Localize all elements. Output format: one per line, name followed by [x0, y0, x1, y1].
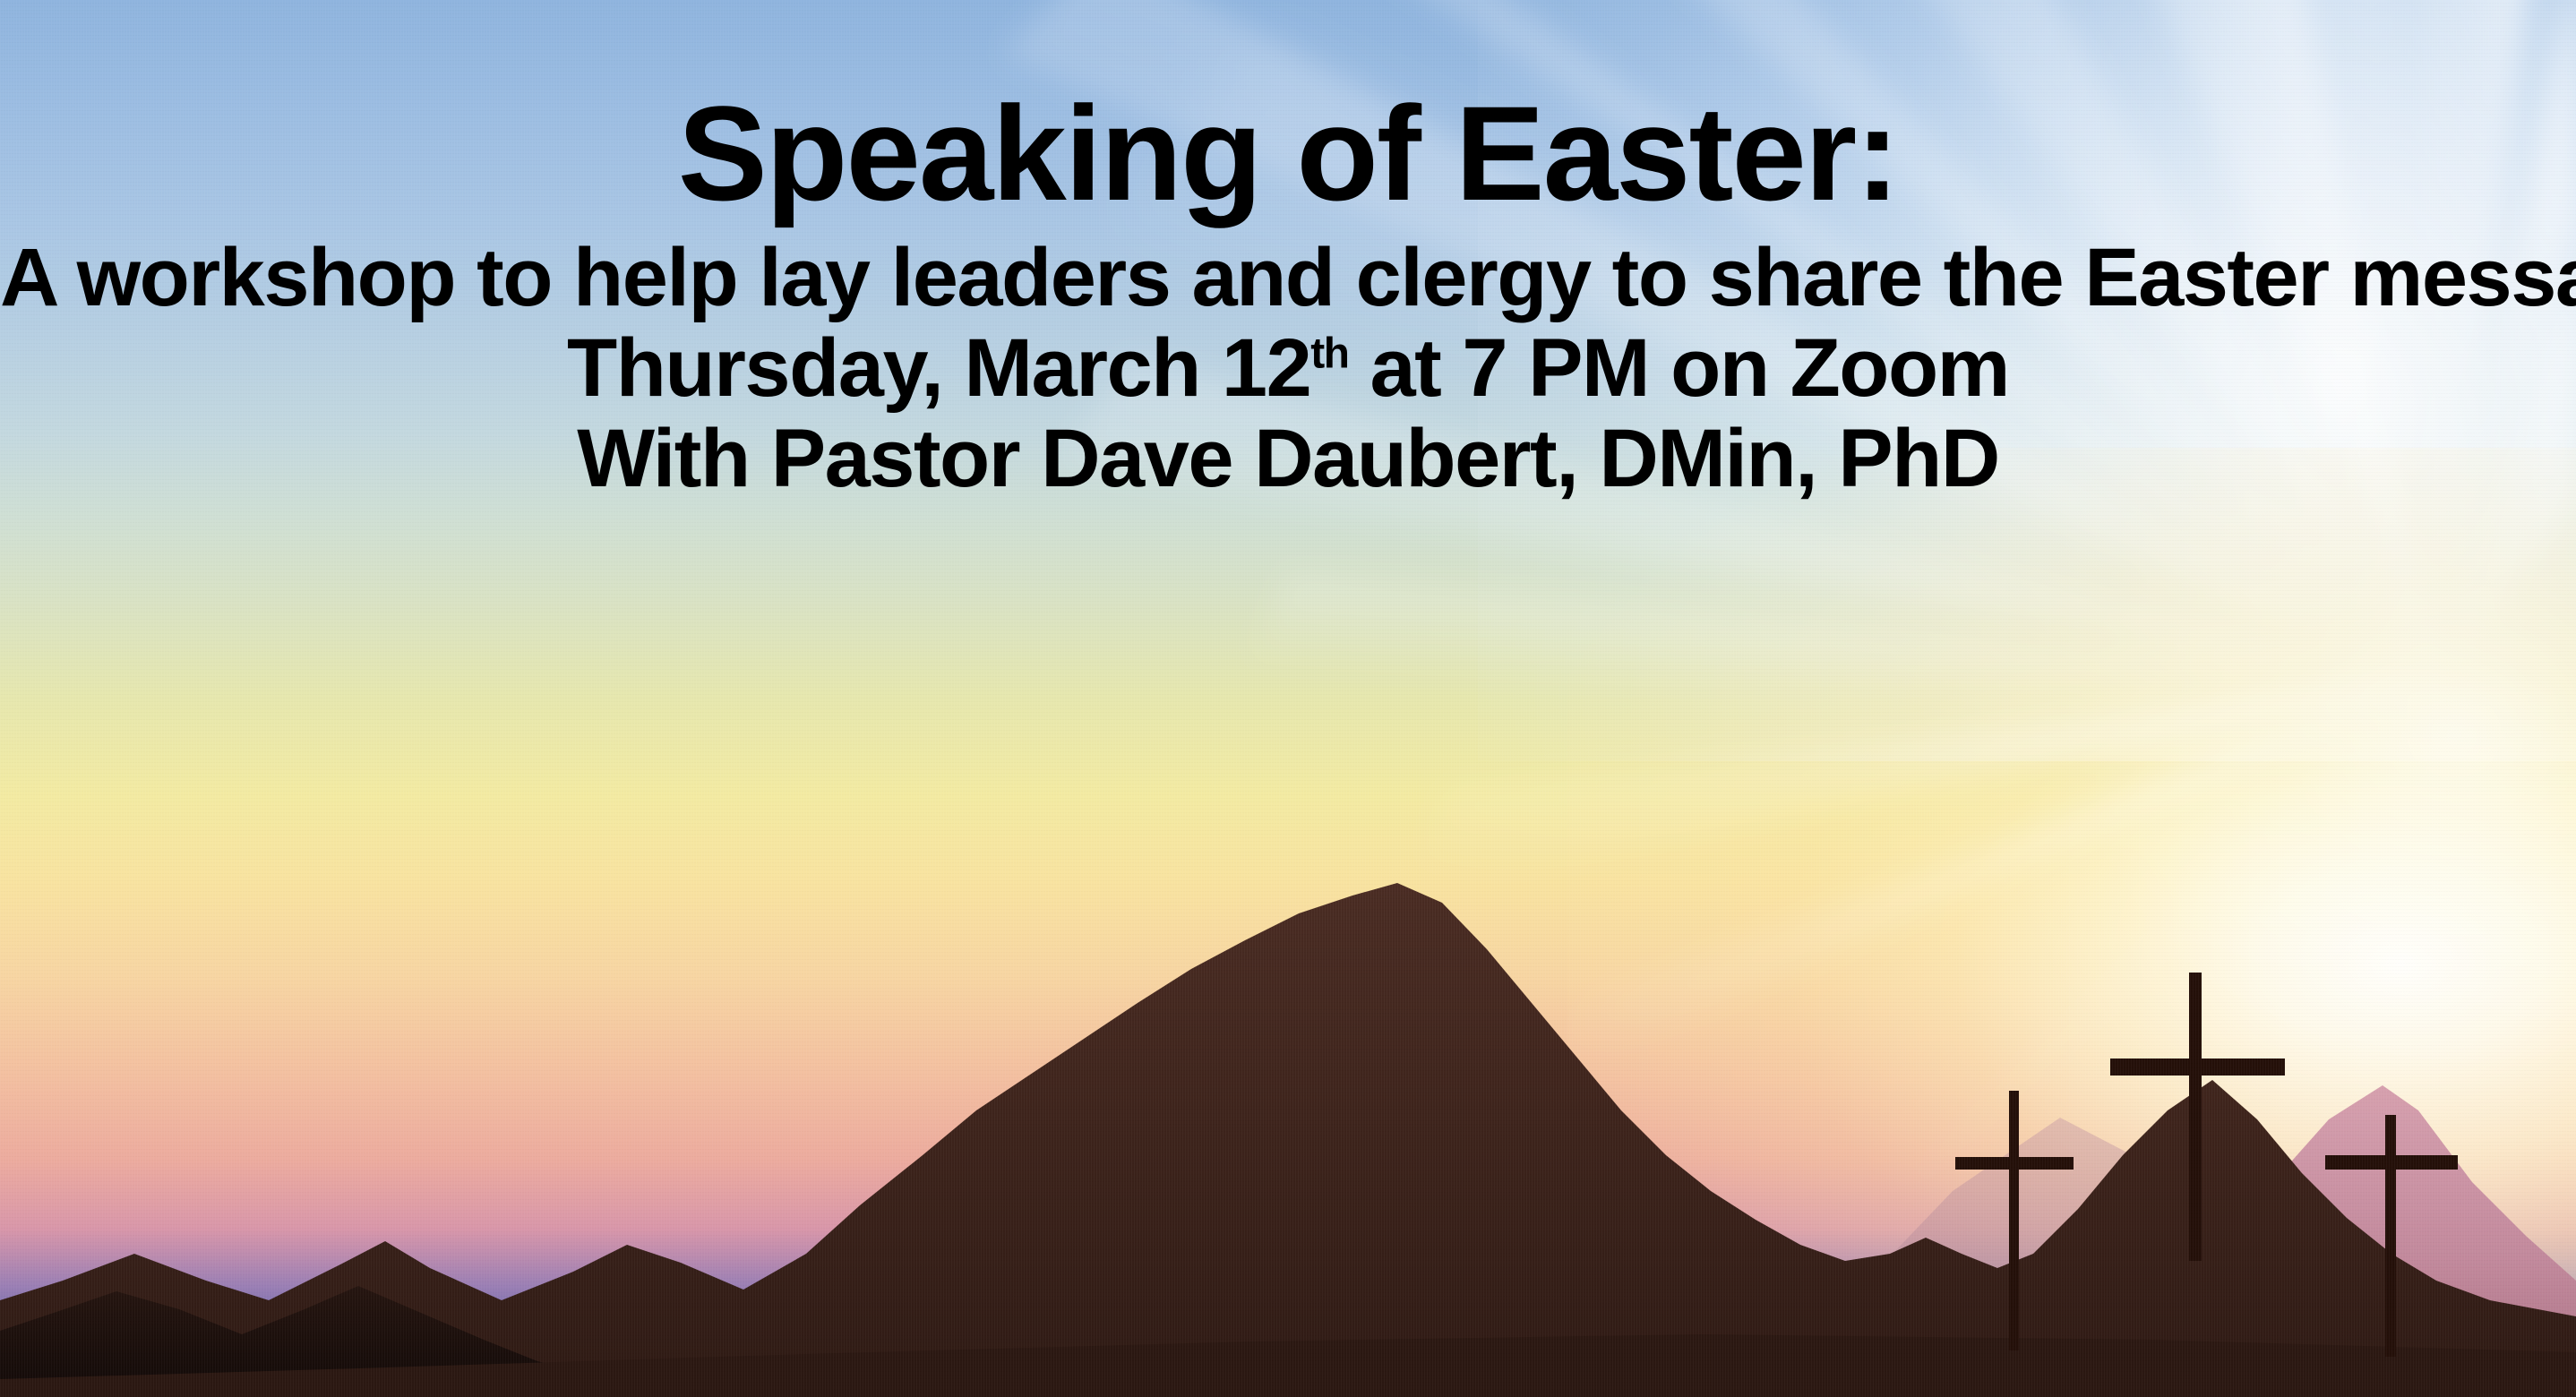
presenter-line: With Pastor Dave Daubert, DMin, PhD — [0, 414, 2576, 504]
workshop-subtitle: A workshop to help lay leaders and clerg… — [0, 233, 2576, 323]
event-date-ordinal: th — [1310, 330, 1348, 378]
event-datetime-line: Thursday, March 12th at 7 PM on Zoom — [0, 323, 2576, 414]
event-time-platform: at 7 PM on Zoom — [1348, 322, 2009, 414]
easter-workshop-poster: Speaking of Easter: A workshop to help l… — [0, 0, 2576, 1397]
poster-text-block: Speaking of Easter: A workshop to help l… — [0, 86, 2576, 505]
event-date-prefix: Thursday, March 12 — [567, 322, 1310, 414]
page-title: Speaking of Easter: — [0, 86, 2576, 220]
